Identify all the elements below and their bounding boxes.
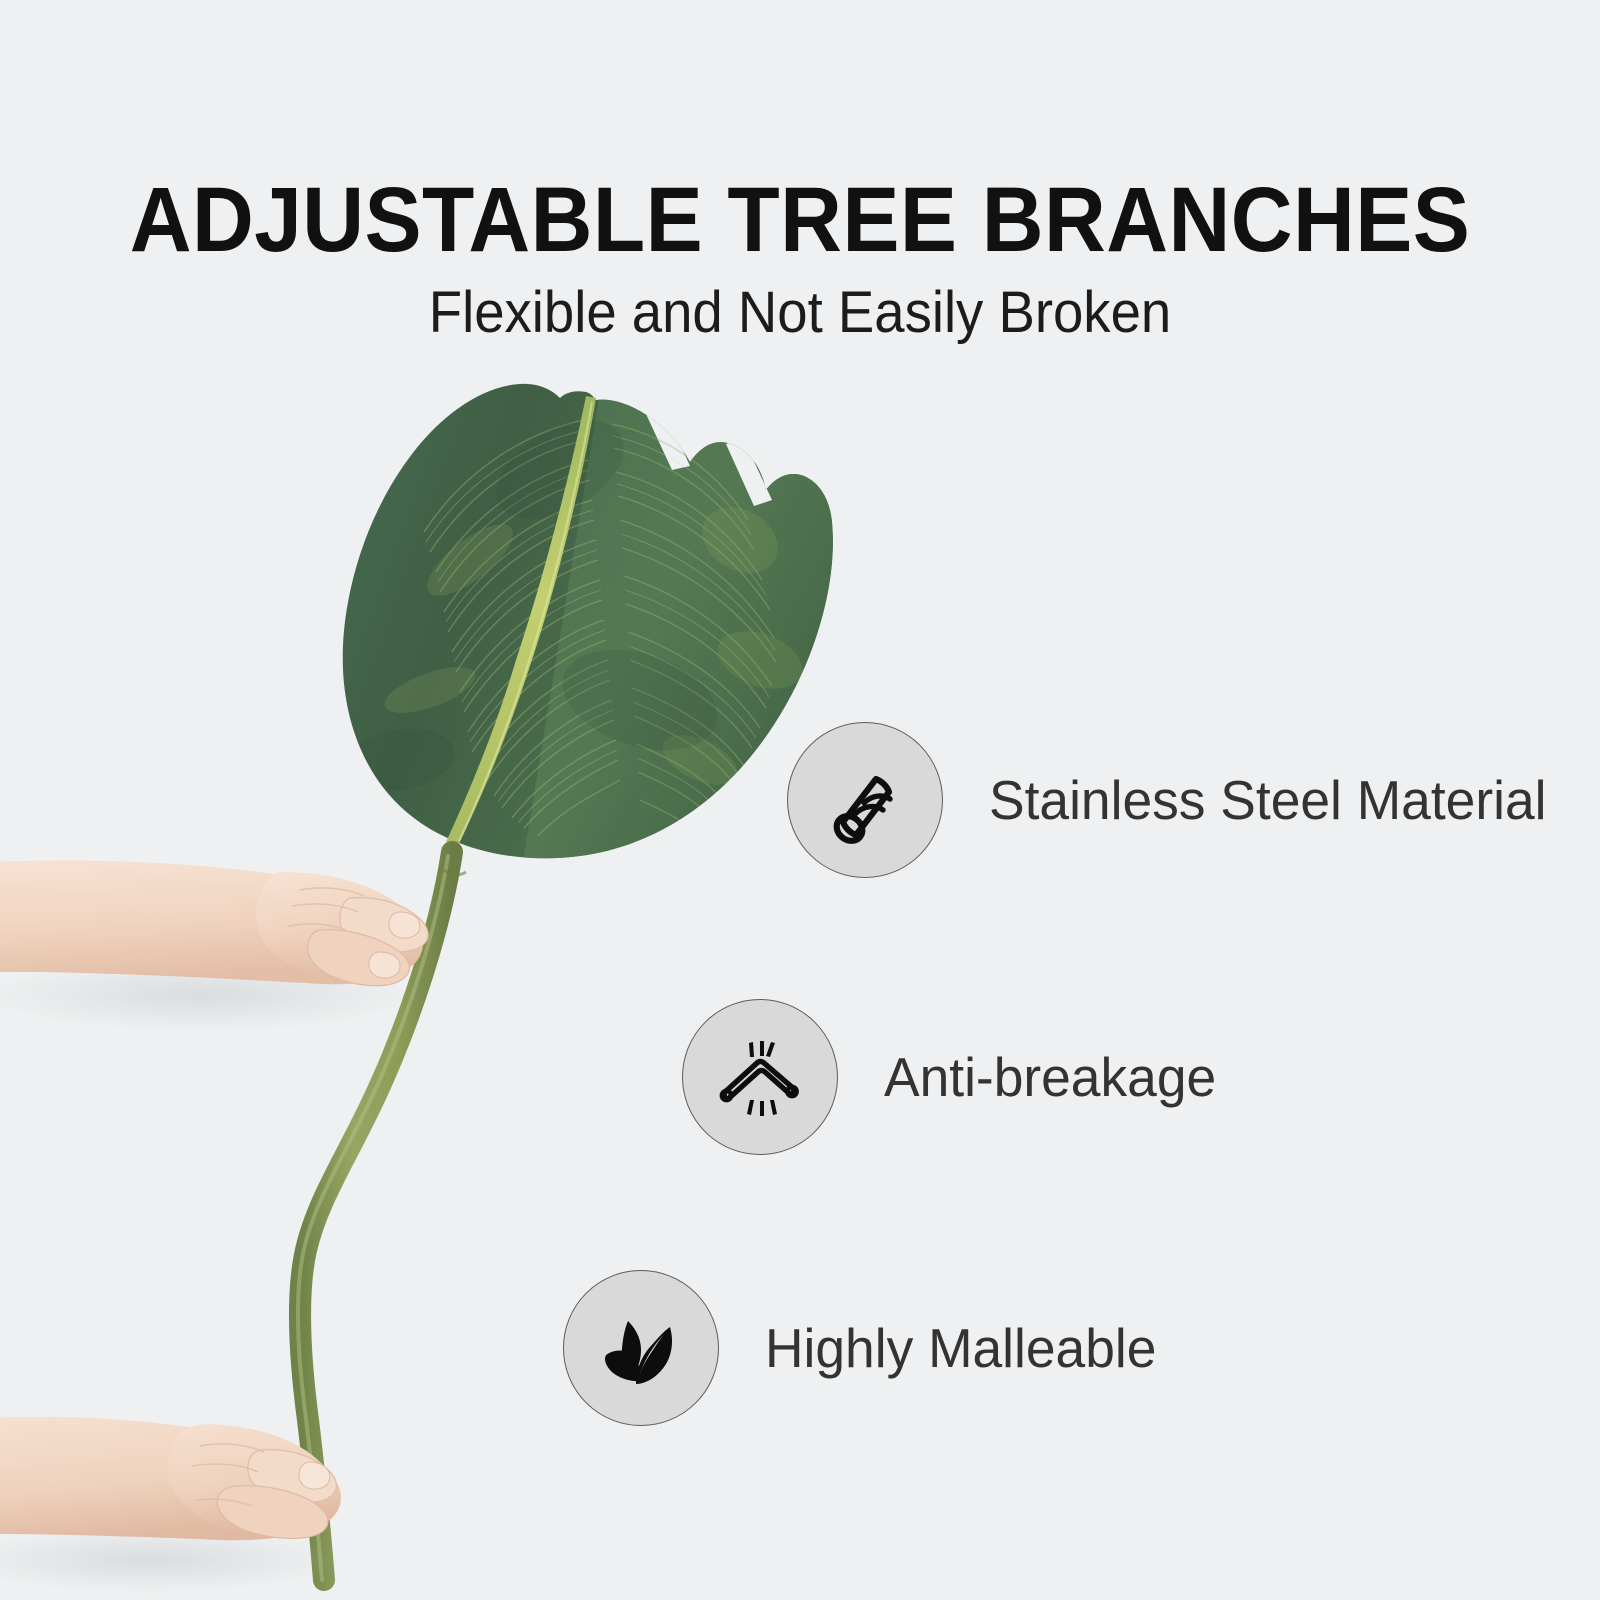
feature-label-1: Anti-breakage [884, 1047, 1216, 1107]
feature-icon-badge-2 [563, 1270, 719, 1426]
stem-graphic [298, 852, 466, 1580]
feature-item-anti-breakage: Anti-breakage [682, 999, 1226, 1155]
upper-index-finger [340, 898, 428, 952]
header: ADJUSTABLE TREE BRANCHES Flexible and No… [0, 0, 1600, 344]
lower-fingers [217, 1486, 328, 1539]
product-infographic: ADJUSTABLE TREE BRANCHES Flexible and No… [0, 0, 1600, 1600]
feature-label-2: Highly Malleable [765, 1318, 1156, 1378]
page-subtitle: Flexible and Not Easily Broken [48, 268, 1552, 344]
upper-thumb [308, 930, 410, 986]
leaf-notch-2 [726, 436, 772, 506]
feature-item-stainless-steel: Stainless Steel Material [787, 722, 1564, 878]
bent-rod-icon [713, 1030, 807, 1124]
feature-icon-badge-1 [682, 999, 838, 1155]
lower-hand [0, 1417, 341, 1592]
upper-hand-palm [256, 872, 423, 980]
leaf-silhouette [343, 384, 833, 858]
stem [300, 852, 452, 1580]
page-title: ADJUSTABLE TREE BRANCHES [56, 0, 1544, 268]
steel-rod-icon [819, 754, 911, 846]
feature-label-0: Stainless Steel Material [989, 770, 1546, 830]
feature-item-highly-malleable: Highly Malleable [563, 1270, 1169, 1426]
lower-index-finger [248, 1450, 337, 1503]
feature-icon-badge-0 [787, 722, 943, 878]
leaf-midrib [446, 396, 596, 846]
upper-hand [0, 861, 428, 1031]
lower-hand-palm [167, 1424, 336, 1537]
leaf-graphic [341, 384, 860, 880]
leaf-notch-1 [646, 404, 690, 470]
leaf-foliage-icon [598, 1305, 684, 1391]
